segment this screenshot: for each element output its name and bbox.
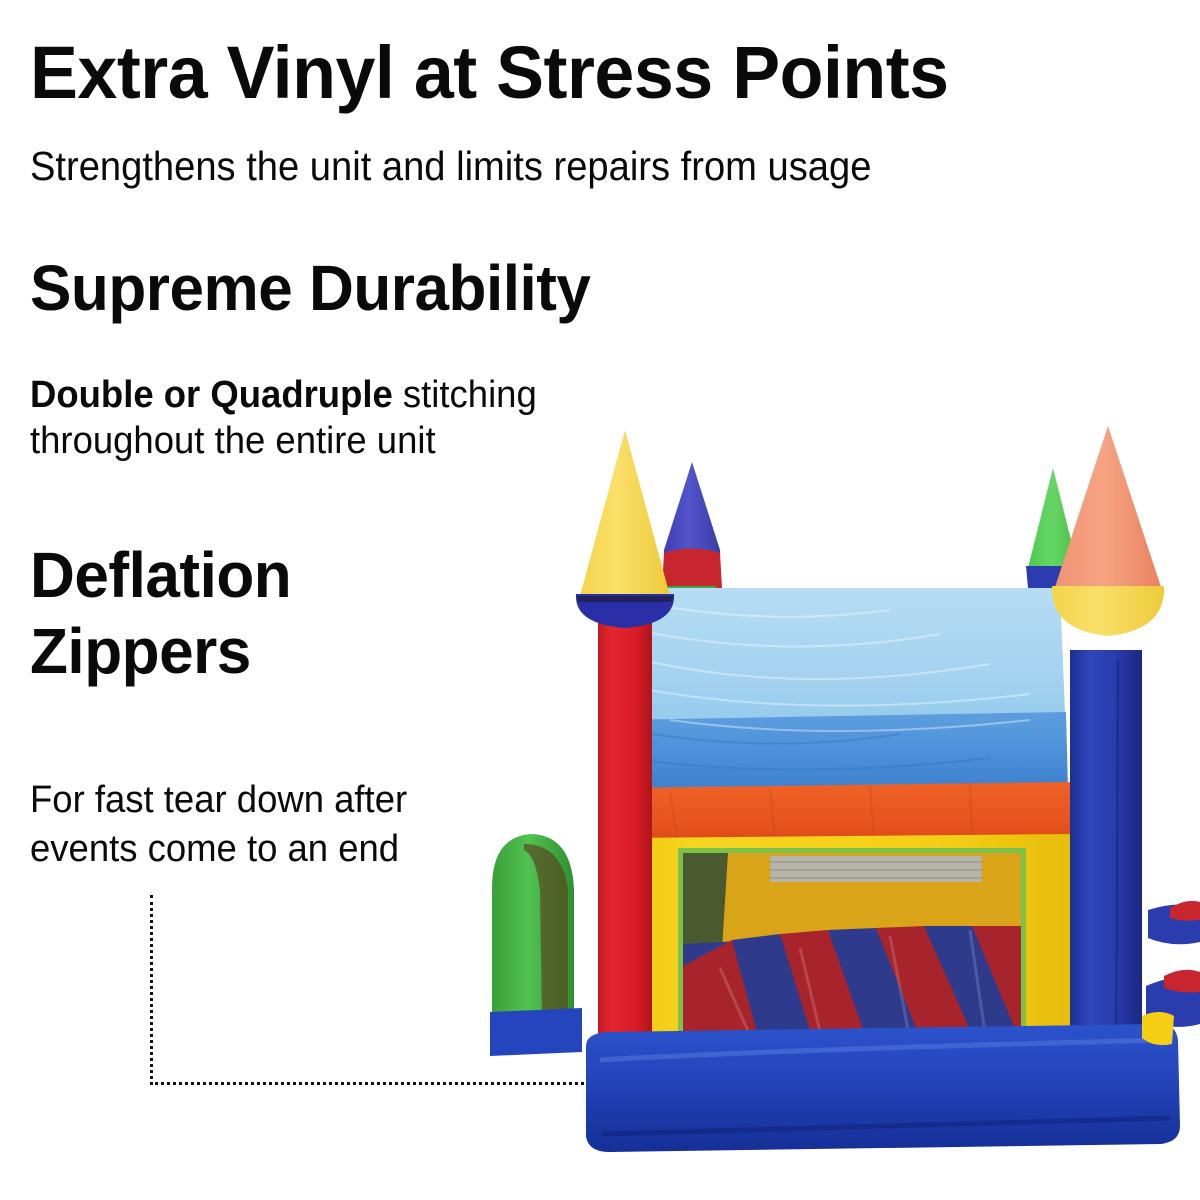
- tower-right-column-blue: [1070, 650, 1142, 1080]
- tower-left-column-red: [598, 620, 652, 1080]
- heading-zippers-line-2: Zippers: [30, 614, 291, 690]
- turret-front-left-yellow: [576, 430, 674, 628]
- interior-left-column: [683, 853, 728, 956]
- bounce-house-svg: [470, 420, 1200, 1160]
- turret-orange-band-yellow: [1052, 586, 1164, 636]
- body-durability-strong: Double or Quadruple: [30, 374, 393, 416]
- side-arch-green: [490, 834, 582, 1056]
- turret-yellow-seam: [577, 596, 673, 602]
- body-stress-points: Strengthens the unit and limits repairs …: [30, 146, 871, 187]
- arch-base-blue: [490, 1008, 582, 1056]
- bounce-window: [678, 848, 1026, 1048]
- bounce-house-image: [470, 420, 1200, 1160]
- turret-orange-cone: [1054, 426, 1162, 590]
- promo-graphic: Extra Vinyl at Stress Points Strengthens…: [0, 0, 1200, 1200]
- obstacle-red-upper: [1170, 901, 1200, 921]
- roof-canopy: [616, 588, 1068, 794]
- body-durability-line-2: throughout the entire unit: [30, 418, 537, 464]
- body-durability-line-1: Double or Quadruple stitching: [30, 372, 537, 418]
- heading-extra-vinyl-at-stress-points: Extra Vinyl at Stress Points: [30, 36, 949, 110]
- body-durability-rest: stitching: [393, 374, 537, 416]
- right-edge-obstacle: [1142, 901, 1200, 1045]
- heading-supreme-durability: Supreme Durability: [30, 256, 590, 320]
- body-zippers-line-2: events come to an end: [30, 825, 407, 874]
- heading-zippers-line-1: Deflation: [30, 538, 291, 614]
- turret-front-right-orange: [1052, 426, 1164, 636]
- obstacle-red-lower: [1164, 970, 1200, 993]
- obstacle-yellow-tab: [1142, 1012, 1174, 1045]
- interior-floor-stripes: [683, 926, 1021, 1043]
- roof-front-panel: [616, 712, 1068, 794]
- turret-yellow-cone: [580, 430, 670, 596]
- turret-back-middle: [662, 462, 722, 602]
- body-zippers-line-1: For fast tear down after: [30, 776, 407, 825]
- heading-deflation-zippers: Deflation Zippers: [30, 538, 291, 689]
- body-supreme-durability: Double or Quadruple stitching throughout…: [30, 372, 537, 465]
- body-deflation-zippers: For fast tear down after events come to …: [30, 776, 407, 873]
